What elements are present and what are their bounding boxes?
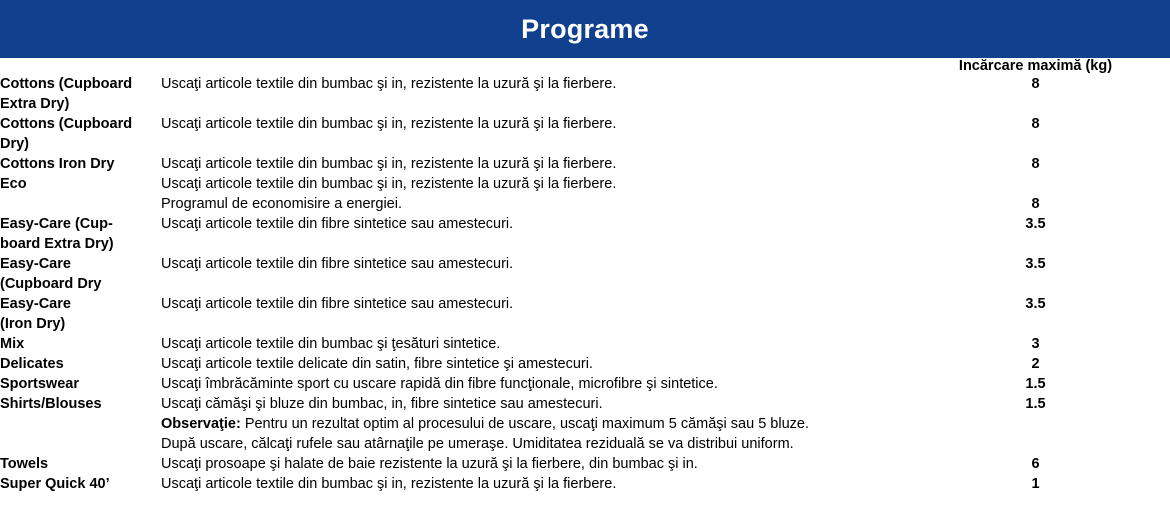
program-description-line: Uscaţi îmbrăcăminte sport cu uscare rapi… (161, 374, 901, 394)
program-name-line (0, 414, 161, 434)
program-name-line: Cottons (Cupboard (0, 114, 161, 134)
program-name-cell: Easy-Care(Cupboard Dry (0, 254, 161, 294)
program-name-cell (0, 414, 161, 454)
table-body: Cottons (CupboardExtra Dry)Uscaţi artico… (0, 74, 1170, 494)
program-description-cell: Uscaţi articole textile din bumbac şi in… (161, 154, 901, 174)
program-description-line: Uscaţi articole textile din bumbac şi in… (161, 114, 901, 134)
program-description-line: Uscaţi articole textile din bumbac şi ţe… (161, 334, 901, 354)
program-description-line (161, 134, 901, 154)
table-row: Cottons (CupboardExtra Dry)Uscaţi artico… (0, 74, 1170, 114)
table-row: EcoUscaţi articole textile din bumbac şi… (0, 174, 1170, 214)
program-name-line: Dry) (0, 134, 161, 154)
program-name-cell: Easy-Care(Iron Dry) (0, 294, 161, 334)
max-load-cell: 8 (901, 154, 1170, 174)
table-row: TowelsUscaţi prosoape şi halate de baie … (0, 454, 1170, 474)
program-name-cell: Cottons (CupboardDry) (0, 114, 161, 154)
program-name-line: Towels (0, 454, 161, 474)
program-description-note: Observaţie: Pentru un rezultat optim al … (161, 414, 901, 434)
program-name-cell: Cottons Iron Dry (0, 154, 161, 174)
max-load-cell: 3 (901, 334, 1170, 354)
table-row: Cottons Iron DryUscaţi articole textile … (0, 154, 1170, 174)
max-load-value: 8 (901, 194, 1170, 214)
program-name-line: (Iron Dry) (0, 314, 161, 334)
table-header-row: Incărcare maximă (kg) (0, 58, 1170, 74)
table-row: Easy-Care(Cupboard DryUscaţi articole te… (0, 254, 1170, 294)
program-description-line: Programul de economisire a energiei. (161, 194, 901, 214)
program-description-line: Uscaţi articole textile din bumbac şi in… (161, 74, 901, 94)
table-row: Cottons (CupboardDry)Uscaţi articole tex… (0, 114, 1170, 154)
program-description-line: După uscare, călcaţi rufele sau atârnaţi… (161, 434, 901, 454)
program-description-line: Uscaţi articole textile din bumbac şi in… (161, 154, 901, 174)
max-load-value: 8 (901, 114, 1170, 134)
max-load-value: 8 (901, 154, 1170, 174)
program-description-line (161, 234, 901, 254)
program-description-line: Uscaţi prosoape şi halate de baie rezist… (161, 454, 901, 474)
max-load-cell (901, 414, 1170, 454)
program-description-cell: Uscaţi articole textile din fibre sintet… (161, 294, 901, 334)
program-name-line: (Cupboard Dry (0, 274, 161, 294)
program-description-line: Uscaţi articole textile din fibre sintet… (161, 294, 901, 314)
program-description-cell: Uscaţi articole textile din fibre sintet… (161, 214, 901, 254)
column-header-max-load: Incărcare maximă (kg) (901, 58, 1170, 74)
program-description-cell: Uscaţi articole textile din fibre sintet… (161, 254, 901, 294)
table-row: SportswearUscaţi îmbrăcăminte sport cu u… (0, 374, 1170, 394)
program-name-cell: Sportswear (0, 374, 161, 394)
program-name-cell: Easy-Care (Cup-board Extra Dry) (0, 214, 161, 254)
max-load-value: 3.5 (901, 294, 1170, 314)
page-title: Programe (0, 0, 1170, 58)
program-description-cell: Uscaţi prosoape şi halate de baie rezist… (161, 454, 901, 474)
program-name-line: Cottons (Cupboard (0, 74, 161, 94)
table-row: Observaţie: Pentru un rezultat optim al … (0, 414, 1170, 454)
program-description-line: Uscaţi articole textile din fibre sintet… (161, 254, 901, 274)
max-load-value: 1.5 (901, 374, 1170, 394)
max-load-value: 3.5 (901, 214, 1170, 234)
max-load-cell: 3.5 (901, 294, 1170, 334)
program-name-line: Sportswear (0, 374, 161, 394)
program-description-cell: Uscaţi articole textile din bumbac şi in… (161, 114, 901, 154)
program-description-line (161, 314, 901, 334)
max-load-value: 3.5 (901, 254, 1170, 274)
table-row: Easy-Care(Iron Dry)Uscaţi articole texti… (0, 294, 1170, 334)
program-name-line: Cottons Iron Dry (0, 154, 161, 174)
program-name-line: Extra Dry) (0, 94, 161, 114)
table-row: Shirts/BlousesUscaţi cămăşi şi bluze din… (0, 394, 1170, 414)
max-load-value: 6 (901, 454, 1170, 474)
program-description-line: Uscaţi articole textile din bumbac şi in… (161, 474, 901, 494)
program-name-line: Mix (0, 334, 161, 354)
program-name-line: Easy-Care (Cup- (0, 214, 161, 234)
note-label: Observaţie: (161, 416, 241, 432)
table-head: Incărcare maximă (kg) (0, 58, 1170, 74)
max-load-cell: 1 (901, 474, 1170, 494)
max-load-cell: 3.5 (901, 254, 1170, 294)
program-description-cell: Uscaţi cămăşi şi bluze din bumbac, in, f… (161, 394, 901, 414)
program-description-line (161, 274, 901, 294)
program-description-cell: Uscaţi articole textile delicate din sat… (161, 354, 901, 374)
note-text: Pentru un rezultat optim al procesului d… (241, 416, 809, 432)
max-load-cell: 8 (901, 114, 1170, 154)
program-name-cell: Shirts/Blouses (0, 394, 161, 414)
table-row: Easy-Care (Cup-board Extra Dry)Uscaţi ar… (0, 214, 1170, 254)
program-description-line: Uscaţi articole textile din bumbac şi in… (161, 174, 901, 194)
program-name-line: Super Quick 40’ (0, 474, 161, 494)
title-banner: Programe (0, 0, 1170, 58)
program-description-cell: Uscaţi articole textile din bumbac şi in… (161, 474, 901, 494)
program-name-cell: Cottons (CupboardExtra Dry) (0, 74, 161, 114)
program-description-line: Uscaţi articole textile din fibre sintet… (161, 214, 901, 234)
program-name-line: Delicates (0, 354, 161, 374)
program-description-cell: Uscaţi articole textile din bumbac şi ţe… (161, 334, 901, 354)
max-load-cell: 1.5 (901, 374, 1170, 394)
max-load-value: 2 (901, 354, 1170, 374)
program-name-cell: Towels (0, 454, 161, 474)
program-name-line: board Extra Dry) (0, 234, 161, 254)
program-name-line: Shirts/Blouses (0, 394, 161, 414)
max-load-cell: 1.5 (901, 394, 1170, 414)
program-description-cell: Uscaţi articole textile din bumbac şi in… (161, 74, 901, 114)
program-description-cell: Observaţie: Pentru un rezultat optim al … (161, 414, 901, 454)
table-row: MixUscaţi articole textile din bumbac şi… (0, 334, 1170, 354)
max-load-cell: 6 (901, 454, 1170, 474)
program-name-line: Easy-Care (0, 254, 161, 274)
max-load-value: 8 (901, 74, 1170, 94)
table-row: DelicatesUscaţi articole textile delicat… (0, 354, 1170, 374)
table-row: Super Quick 40’Uscaţi articole textile d… (0, 474, 1170, 494)
max-load-cell: 8 (901, 174, 1170, 214)
programs-table: Incărcare maximă (kg) Cottons (CupboardE… (0, 58, 1170, 494)
program-name-line: Eco (0, 174, 161, 194)
program-description-line: Uscaţi cămăşi şi bluze din bumbac, in, f… (161, 394, 901, 414)
max-load-cell: 3.5 (901, 214, 1170, 254)
max-load-value: 1.5 (901, 394, 1170, 414)
program-description-cell: Uscaţi articole textile din bumbac şi in… (161, 174, 901, 214)
column-header-description (161, 58, 901, 74)
program-table-area: Incărcare maximă (kg) Cottons (CupboardE… (0, 58, 1170, 520)
program-name-cell: Delicates (0, 354, 161, 374)
program-name-cell: Mix (0, 334, 161, 354)
max-load-cell: 8 (901, 74, 1170, 114)
column-header-program (0, 58, 161, 74)
program-name-cell: Eco (0, 174, 161, 214)
program-description-line: Uscaţi articole textile delicate din sat… (161, 354, 901, 374)
program-name-line: Easy-Care (0, 294, 161, 314)
max-load-cell: 2 (901, 354, 1170, 374)
max-load-value: 1 (901, 474, 1170, 494)
max-load-value: 3 (901, 334, 1170, 354)
program-name-cell: Super Quick 40’ (0, 474, 161, 494)
program-description-line (161, 94, 901, 114)
program-description-cell: Uscaţi îmbrăcăminte sport cu uscare rapi… (161, 374, 901, 394)
